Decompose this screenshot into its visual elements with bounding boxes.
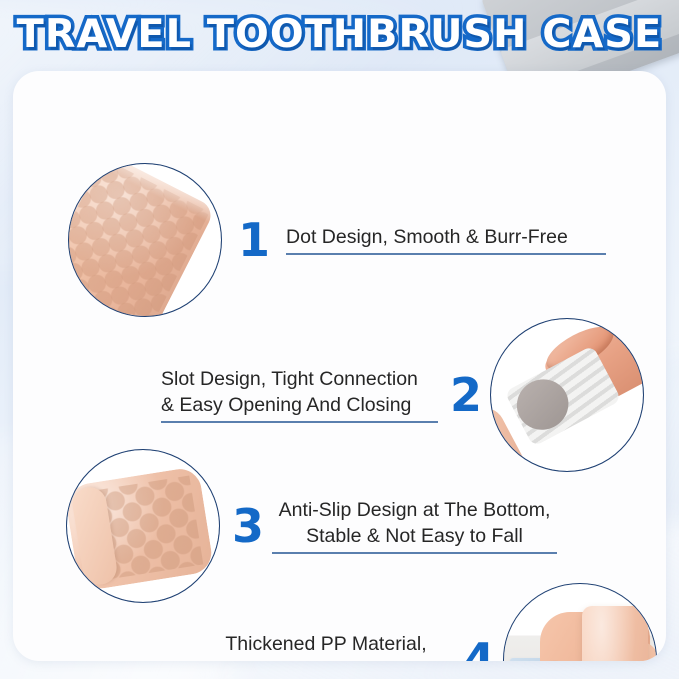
feature-image-1-dotted-body bbox=[68, 163, 222, 317]
feature-image-4-hand-holding-case bbox=[503, 583, 657, 661]
feature-text-1-line-1: Dot Design, Smooth & Burr-Free bbox=[286, 224, 606, 250]
feature-number-4: 4 bbox=[457, 637, 501, 661]
feature-number-2: 2 bbox=[444, 372, 488, 418]
feature-text-3: Anti-Slip Design at The Bottom, Stable &… bbox=[272, 497, 557, 556]
page-title: TRAVEL TOOTHBRUSH CASE bbox=[17, 13, 663, 57]
feature-row-1: 1 Dot Design, Smooth & Burr-Free bbox=[68, 163, 666, 317]
feature-card: 1 Dot Design, Smooth & Burr-Free Slot De… bbox=[13, 71, 666, 661]
feature-row-4: Thickened PP Material, Durable & Easy To… bbox=[205, 583, 666, 661]
feature-row-3: 3 Anti-Slip Design at The Bottom, Stable… bbox=[66, 449, 666, 603]
feature-underline-2 bbox=[161, 421, 438, 423]
feature-text-2-line-1: Slot Design, Tight Connection bbox=[161, 366, 438, 392]
poster-title-area: TRAVEL TOOTHBRUSH CASE bbox=[0, 13, 679, 57]
feature-text-3-line-2: Stable & Not Easy to Fall bbox=[272, 523, 557, 549]
feature-text-3-line-1: Anti-Slip Design at The Bottom, bbox=[272, 497, 557, 523]
feature-number-1: 1 bbox=[232, 217, 276, 263]
feature-text-1: Dot Design, Smooth & Burr-Free bbox=[286, 224, 606, 257]
feature-text-2-line-2: & Easy Opening And Closing bbox=[161, 392, 438, 418]
feature-number-3: 3 bbox=[226, 503, 270, 549]
product-infographic-poster: TRAVEL TOOTHBRUSH CASE 1 Dot Design, Smo… bbox=[0, 0, 679, 679]
feature-text-4-line-2: Durable & Easy To Carry bbox=[205, 657, 447, 662]
feature-text-2: Slot Design, Tight Connection & Easy Ope… bbox=[161, 366, 438, 425]
feature-underline-1 bbox=[286, 253, 606, 255]
feature-text-4-line-1: Thickened PP Material, bbox=[205, 631, 447, 657]
feature-image-3-anti-slip-bottom bbox=[66, 449, 220, 603]
feature-underline-3 bbox=[272, 552, 557, 554]
feature-text-4: Thickened PP Material, Durable & Easy To… bbox=[205, 631, 447, 662]
